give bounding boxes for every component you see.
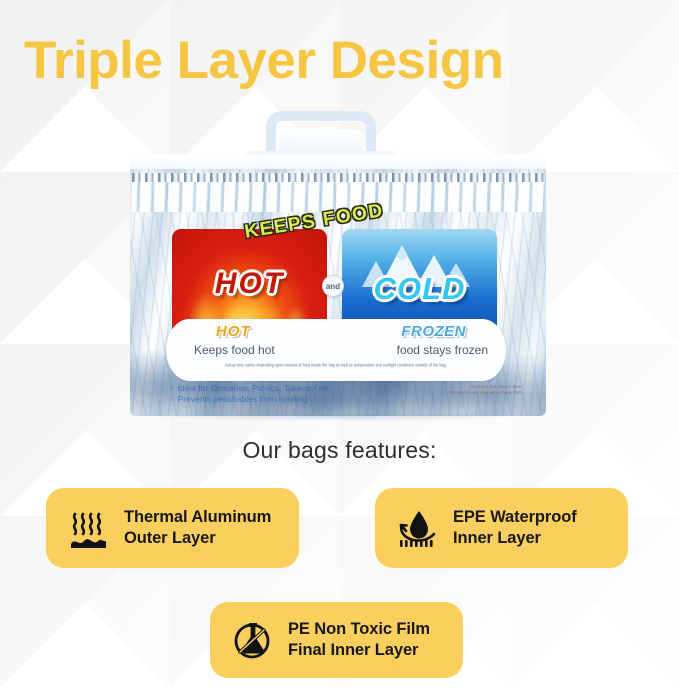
no-toxic-flask-icon xyxy=(230,618,274,662)
feature-card-label: PE Non Toxic Film Final Inner Layer xyxy=(288,619,430,661)
water-droplet-repel-icon xyxy=(395,506,439,550)
bag-info-band: HOT FROZEN Keeps food hot food stays fro… xyxy=(166,319,506,381)
feature-label-line2: Outer Layer xyxy=(124,528,271,549)
frozen-subtitle: food stays frozen xyxy=(397,343,488,357)
bag-bullets-right: Reusable and easy to clean For interior … xyxy=(449,384,522,396)
feature-card-thermal-aluminum[interactable]: Thermal Aluminum Outer Layer xyxy=(46,488,299,568)
heat-waves-icon xyxy=(66,506,110,550)
bag-bullet-item: Ideal for Groceries, Picnics, Take-out e… xyxy=(170,383,332,394)
feature-label-line2: Final Inner Layer xyxy=(288,640,430,661)
feature-label-line1: Thermal Aluminum xyxy=(124,507,271,528)
feature-card-label: EPE Waterproof Inner Layer xyxy=(453,507,577,549)
bag-seam xyxy=(132,173,544,182)
feature-label-line1: EPE Waterproof xyxy=(453,507,577,528)
hot-headline: HOT xyxy=(172,267,327,301)
hot-subtitle: Keeps food hot xyxy=(194,343,275,357)
feature-label-line1: PE Non Toxic Film xyxy=(288,619,430,640)
bag-disclaimer: Actual time varies depending upon amount… xyxy=(166,363,506,368)
page-title: Triple Layer Design xyxy=(24,33,503,89)
and-badge: and xyxy=(322,275,344,297)
bag-bullet-item: Prevents perishables from spoiling xyxy=(170,394,332,405)
cold-headline: COLD xyxy=(342,271,497,307)
bag-bullets-left: Ideal for Groceries, Picnics, Take-out e… xyxy=(170,383,332,406)
bag-bullet-item: For interior use, wipe with a damp cloth xyxy=(449,390,522,396)
feature-card-label: Thermal Aluminum Outer Layer xyxy=(124,507,271,549)
feature-label-line2: Inner Layer xyxy=(453,528,577,549)
product-bag-image: HOT COLD and KEEPS FOOD HOT FROZEN Keeps… xyxy=(128,107,548,419)
hot-logo: HOT xyxy=(216,323,251,340)
frozen-logo: FROZEN xyxy=(401,323,466,340)
feature-card-epe-waterproof[interactable]: EPE Waterproof Inner Layer xyxy=(375,488,628,568)
features-heading: Our bags features: xyxy=(0,437,679,464)
bag-drop-shadow xyxy=(146,411,530,421)
infographic-page: Triple Layer Design HOT COLD and xyxy=(0,0,679,688)
feature-card-pe-non-toxic[interactable]: PE Non Toxic Film Final Inner Layer xyxy=(210,602,463,678)
